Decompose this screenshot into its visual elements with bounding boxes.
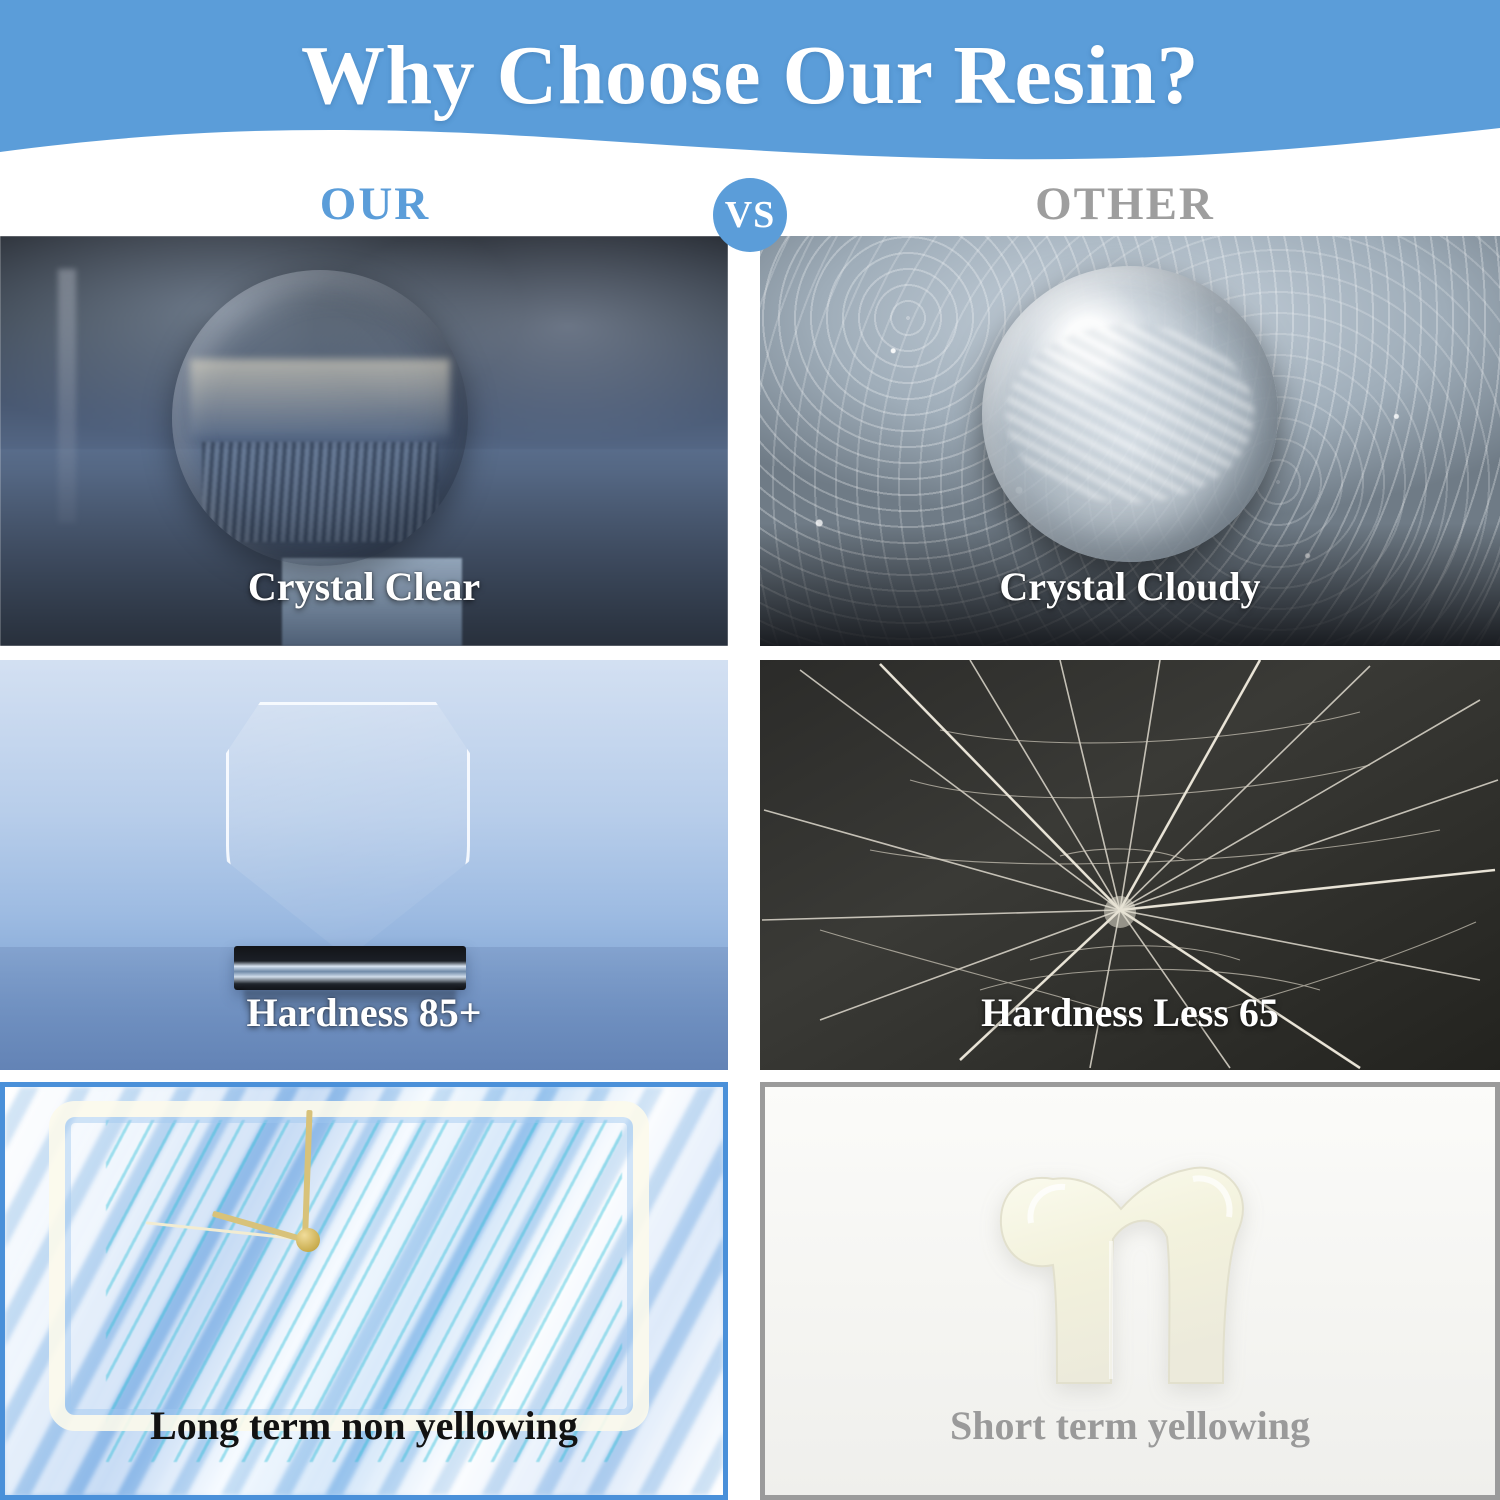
caption-yellowing-our: Long term non yellowing [5,1405,723,1447]
page-title: Why Choose Our Resin? [0,34,1500,118]
caption-crystal-clear: Crystal Clear [0,566,728,608]
panel-our-hardness: Hardness 85+ [0,660,728,1070]
panel-our-clarity: Crystal Clear [0,236,728,646]
yellowed-resin-letter-icon [961,1121,1291,1401]
caption-hardness-our: Hardness 85+ [0,992,728,1034]
vs-badge: VS [713,178,787,252]
caption-crystal-cloudy: Crystal Cloudy [760,566,1500,608]
header-banner: Why Choose Our Resin? [0,0,1500,172]
panel-other-yellowing: Short term yellowing [760,1082,1500,1500]
clock-frame [49,1101,649,1431]
caption-hardness-other: Hardness Less 65 [760,992,1500,1034]
trophy-base [234,946,466,990]
clock-center-pin [296,1228,320,1252]
clock-hands [305,1237,311,1243]
panel-our-yellowing: Long term non yellowing [0,1082,728,1500]
comparison-grid: Crystal Clear Crystal Cloudy Hardness 85… [0,236,1500,1500]
clear-crystal-ball-icon [172,270,468,566]
cloudy-crystal-ball-icon [982,266,1278,562]
infographic-root: Why Choose Our Resin? OUR OTHER VS Cryst… [0,0,1500,1500]
panel-other-clarity: Crystal Cloudy [760,236,1500,646]
resin-letter-shape [961,1121,1291,1401]
caption-yellowing-other: Short term yellowing [765,1405,1495,1447]
wave-divider-icon [0,122,1500,172]
panel-other-hardness: Hardness Less 65 [760,660,1500,1070]
label-our: OUR [160,172,590,236]
label-other: OTHER [910,172,1340,236]
